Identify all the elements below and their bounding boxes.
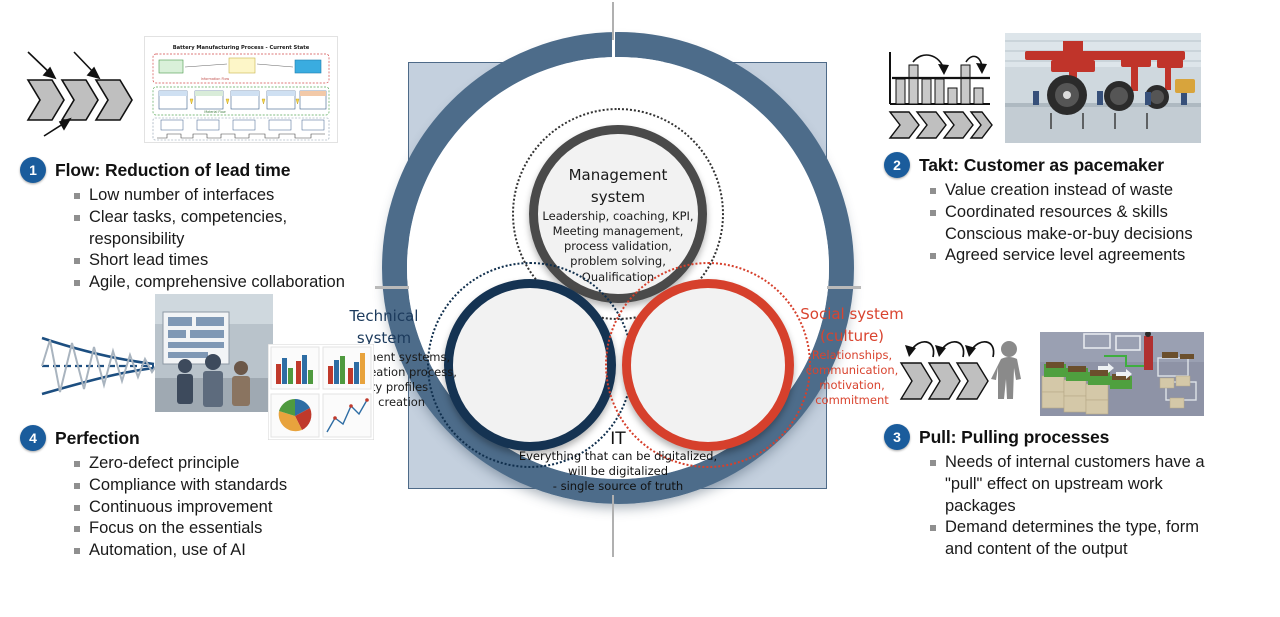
it-body: Everything that can be digitalized, will… xyxy=(378,449,858,494)
list-item: Agreed service level agreements xyxy=(928,245,1224,267)
quadrant-pull: 3 Pull: Pulling processes Needs of inter… xyxy=(884,424,1224,561)
ring-notch-right xyxy=(827,286,861,289)
assembly-line-photo xyxy=(1005,33,1201,143)
list-item: Clear tasks, competencies, xyxy=(72,207,370,229)
quadrant-perfection-header: 4 Perfection xyxy=(20,425,350,451)
list-item: Agile, comprehensive collaboration xyxy=(72,272,370,294)
variation-reduction-icon xyxy=(34,322,160,410)
list-item: Coordinated resources & skills xyxy=(928,202,1224,224)
social-title-line1: Social system xyxy=(612,304,1092,326)
quadrant-flow: 1 Flow: Reduction of lead time Low numbe… xyxy=(20,157,370,294)
quadrant-takt-title: Takt: Customer as pacemaker xyxy=(919,152,1164,175)
list-item: Automation, use of AI xyxy=(72,540,350,562)
takt-leveling-chart-icon xyxy=(882,48,997,140)
ring-notch-left xyxy=(375,286,409,289)
svg-text:Material Flow: Material Flow xyxy=(204,110,226,114)
list-item: Value creation instead of waste xyxy=(928,180,1224,202)
list-item: responsibility xyxy=(72,229,370,251)
quadrant-pull-header: 3 Pull: Pulling processes xyxy=(884,424,1224,450)
quadrant-pull-bullets: Needs of internal customers have a "pull… xyxy=(928,452,1224,561)
quadrant-flow-title: Flow: Reduction of lead time xyxy=(55,157,290,180)
quadrant-perfection-title: Perfection xyxy=(55,425,140,448)
quadrant-flow-bullets: Low number of interfaces Clear tasks, co… xyxy=(72,185,370,294)
quadrant-perfection: 4 Perfection Zero-defect principle Compl… xyxy=(20,425,350,562)
svg-text:Battery Manufacturing Process: Battery Manufacturing Process - Current … xyxy=(173,45,310,51)
kanban-supermarket-photo xyxy=(1040,332,1204,416)
quadrant-takt: 2 Takt: Customer as pacemaker Value crea… xyxy=(884,152,1224,267)
list-item: Compliance with standards xyxy=(72,475,350,497)
list-item: packages xyxy=(928,496,1224,518)
svg-text:Information Flow: Information Flow xyxy=(201,77,230,81)
management-circle-text: Management system Leadership, coaching, … xyxy=(378,165,858,285)
list-item: Needs of internal customers have a xyxy=(928,452,1224,474)
quadrant-pull-title: Pull: Pulling processes xyxy=(919,424,1109,447)
quadrant-flow-header: 1 Flow: Reduction of lead time xyxy=(20,157,370,183)
slide-canvas: Management system Leadership, coaching, … xyxy=(0,0,1280,617)
list-item: Focus on the essentials xyxy=(72,518,350,540)
quadrant-takt-badge: 2 xyxy=(884,152,910,178)
vertical-divider-bottom xyxy=(612,495,614,557)
quadrant-flow-badge: 1 xyxy=(20,157,46,183)
list-item: Conscious make-or-buy decisions xyxy=(928,224,1224,246)
shopfloor-meeting-photo xyxy=(155,294,273,412)
list-item: "pull" effect on upstream work xyxy=(928,474,1224,496)
management-title-line2: system xyxy=(378,187,858,209)
list-item: Zero-defect principle xyxy=(72,453,350,475)
list-item: Low number of interfaces xyxy=(72,185,370,207)
list-item: and content of the output xyxy=(928,539,1224,561)
quadrant-perfection-badge: 4 xyxy=(20,425,46,451)
lean-system-diagram: Management system Leadership, coaching, … xyxy=(378,40,858,565)
it-caption: IT Everything that can be digitalized, w… xyxy=(378,430,858,494)
list-item: Continuous improvement xyxy=(72,497,350,519)
quadrant-takt-bullets: Value creation instead of waste Coordina… xyxy=(928,180,1224,267)
it-title: IT xyxy=(378,430,858,449)
vertical-divider-top xyxy=(612,2,614,40)
quadrant-takt-header: 2 Takt: Customer as pacemaker xyxy=(884,152,1224,178)
value-stream-map-thumbnail: Battery Manufacturing Process - Current … xyxy=(144,36,338,143)
list-item: Demand determines the type, form xyxy=(928,517,1224,539)
management-title-line1: Management xyxy=(378,165,858,187)
list-item: Short lead times xyxy=(72,250,370,272)
management-body: Leadership, coaching, KPI, Meeting manag… xyxy=(378,209,858,285)
quadrant-perfection-bullets: Zero-defect principle Compliance with st… xyxy=(72,453,350,562)
pull-chevrons-person-icon xyxy=(897,327,1037,411)
flow-chevrons-icon xyxy=(14,32,139,137)
quadrant-pull-badge: 3 xyxy=(884,424,910,450)
